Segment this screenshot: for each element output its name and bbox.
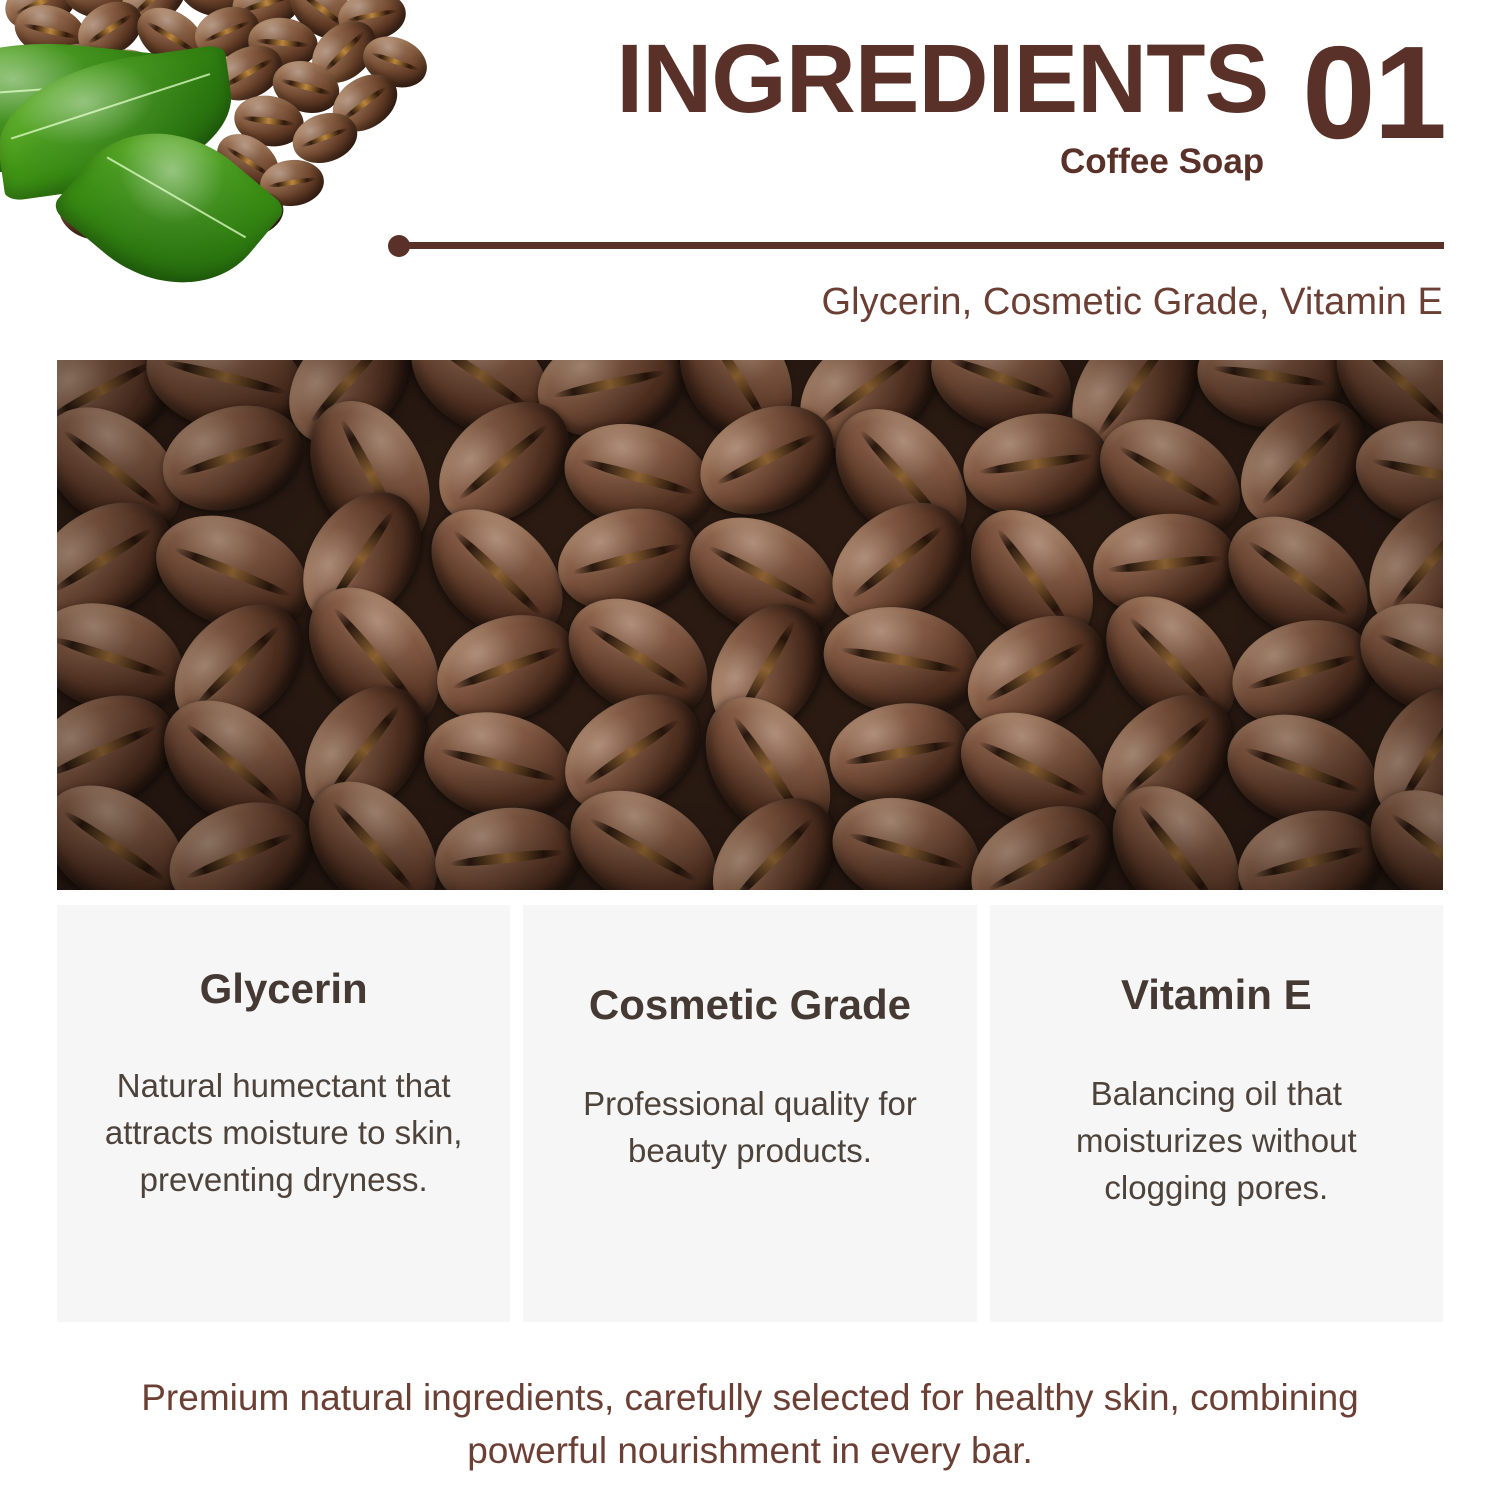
ingredient-card-description: Balancing oil that moisturizes without c…	[1016, 1071, 1417, 1212]
coffee-bean-icon	[188, 0, 266, 66]
coffee-bean-icon	[278, 0, 365, 51]
ingredient-summary-text: Glycerin, Cosmetic Grade, Vitamin E	[380, 281, 1443, 325]
coffee-bean-icon	[68, 0, 152, 68]
ingredient-card-title: Cosmetic Grade	[589, 981, 911, 1029]
coffee-bean-icon	[217, 184, 289, 243]
coffee-bean-icon	[1227, 796, 1393, 890]
coffee-bean-icon	[258, 157, 326, 209]
coffee-bean-icon	[9, 0, 92, 65]
ingredient-card: Glycerin Natural humectant that attracts…	[57, 905, 510, 1322]
page-subtitle: Coffee Soap	[1060, 143, 1264, 182]
coffee-bean-icon	[169, 0, 249, 26]
page-title: INGREDIENTS	[616, 30, 1268, 127]
ingredient-card-description: Natural humectant that attracts moisture…	[83, 1063, 484, 1204]
ingredients-infographic-page: INGREDIENTS Coffee Soap 01 Glycerin, Cos…	[0, 0, 1500, 1500]
coffee-bean-icon	[205, 35, 292, 112]
coffee-bean-icon	[266, 53, 346, 122]
coffee-bean-icon	[95, 39, 178, 113]
hero-coffee-beans-image	[57, 360, 1443, 890]
coffee-bean-icon	[52, 183, 127, 248]
coffee-bean-icon	[38, 37, 117, 100]
ingredient-card-description: Professional quality for beauty products…	[549, 1081, 950, 1175]
coffee-bean-icon	[206, 123, 289, 202]
divider-line	[404, 242, 1444, 249]
coffee-leaf-icon	[0, 44, 242, 202]
ingredient-card-title: Vitamin E	[1121, 971, 1312, 1019]
step-number-badge: 01	[1302, 30, 1445, 157]
coffee-bean-icon	[300, 9, 388, 96]
coffee-bean-icon	[110, 0, 198, 39]
ingredient-card: Vitamin E Balancing oil that moisturizes…	[990, 905, 1443, 1322]
coffee-bean-icon	[126, 0, 215, 78]
decor-bean-cluster	[0, 0, 436, 302]
coffee-beans-leaves-decoration	[0, 0, 436, 302]
footer-tagline: Premium natural ingredients, carefully s…	[120, 1372, 1380, 1477]
page-header: INGREDIENTS Coffee Soap 01	[380, 30, 1445, 230]
coffee-bean-icon	[230, 90, 308, 151]
coffee-bean-icon	[0, 0, 85, 40]
coffee-leaf-icon	[50, 91, 287, 302]
section-divider	[388, 234, 1444, 258]
ingredient-card: Cosmetic Grade Professional quality for …	[523, 905, 976, 1322]
header-title-stack: INGREDIENTS Coffee Soap	[616, 30, 1268, 182]
coffee-bean-icon	[430, 801, 584, 890]
coffee-bean-icon	[286, 105, 364, 171]
hero-bean-field	[57, 360, 1443, 890]
coffee-leaf-icon	[0, 28, 182, 189]
coffee-bean-icon	[227, 0, 307, 36]
ingredient-card-title: Glycerin	[200, 965, 368, 1013]
coffee-bean-icon	[245, 13, 321, 72]
header-title-row: INGREDIENTS Coffee Soap 01	[380, 30, 1445, 182]
coffee-bean-icon	[58, 0, 137, 25]
coffee-bean-icon	[0, 80, 82, 157]
ingredient-cards-row: Glycerin Natural humectant that attracts…	[57, 905, 1443, 1322]
